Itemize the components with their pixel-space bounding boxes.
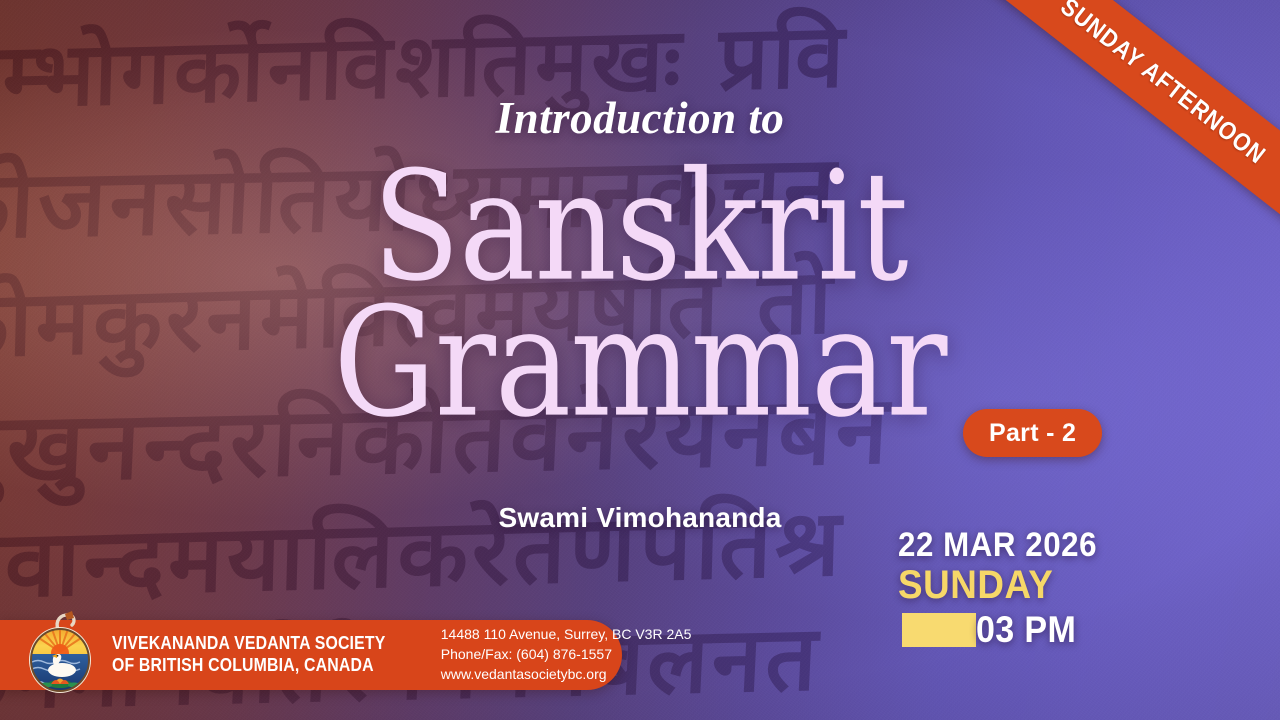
part-badge: Part - 2 — [963, 409, 1102, 457]
event-day: SUNDAY — [898, 565, 1110, 605]
part-badge-label: Part - 2 — [989, 419, 1076, 448]
title-line-sanskrit: Sanskrit — [0, 163, 1280, 293]
event-time: 03 PM — [976, 611, 1076, 648]
schedule-block: 22 MAR 2026 SUNDAY 03 PM — [898, 528, 1128, 648]
contact-website[interactable]: www.vedantasocietybc.org — [441, 665, 692, 685]
title-line-grammar: Grammar — [0, 299, 1280, 429]
event-time-row: 03 PM — [902, 611, 1128, 648]
contact-phone: Phone/Fax: (604) 876-1557 — [441, 645, 692, 665]
contact-details: 14488 110 Avenue, Surrey, BC V3R 2A5 Pho… — [441, 625, 692, 685]
organization-name-line2: OF BRITISH COLUMBIA, CANADA — [112, 655, 385, 677]
title-kicker: Introduction to — [0, 96, 1280, 141]
footer-bar: VIVEKANANDA VEDANTA SOCIETY OF BRITISH C… — [0, 620, 622, 690]
organization-name: VIVEKANANDA VEDANTA SOCIETY OF BRITISH C… — [112, 633, 423, 677]
title-block: Introduction to Sanskrit Grammar — [0, 96, 1280, 409]
time-highlight-swatch — [902, 613, 976, 647]
contact-address: 14488 110 Avenue, Surrey, BC V3R 2A5 — [441, 625, 692, 645]
event-poster: सम्भोगर्कोनविशतिमुखः प्रवि कोजनसोतियोध्य… — [0, 0, 1280, 720]
organization-name-line1: VIVEKANANDA VEDANTA SOCIETY — [112, 633, 385, 655]
event-date: 22 MAR 2026 — [898, 528, 1110, 563]
ramakrishna-order-swan-emblem-icon — [24, 610, 96, 696]
